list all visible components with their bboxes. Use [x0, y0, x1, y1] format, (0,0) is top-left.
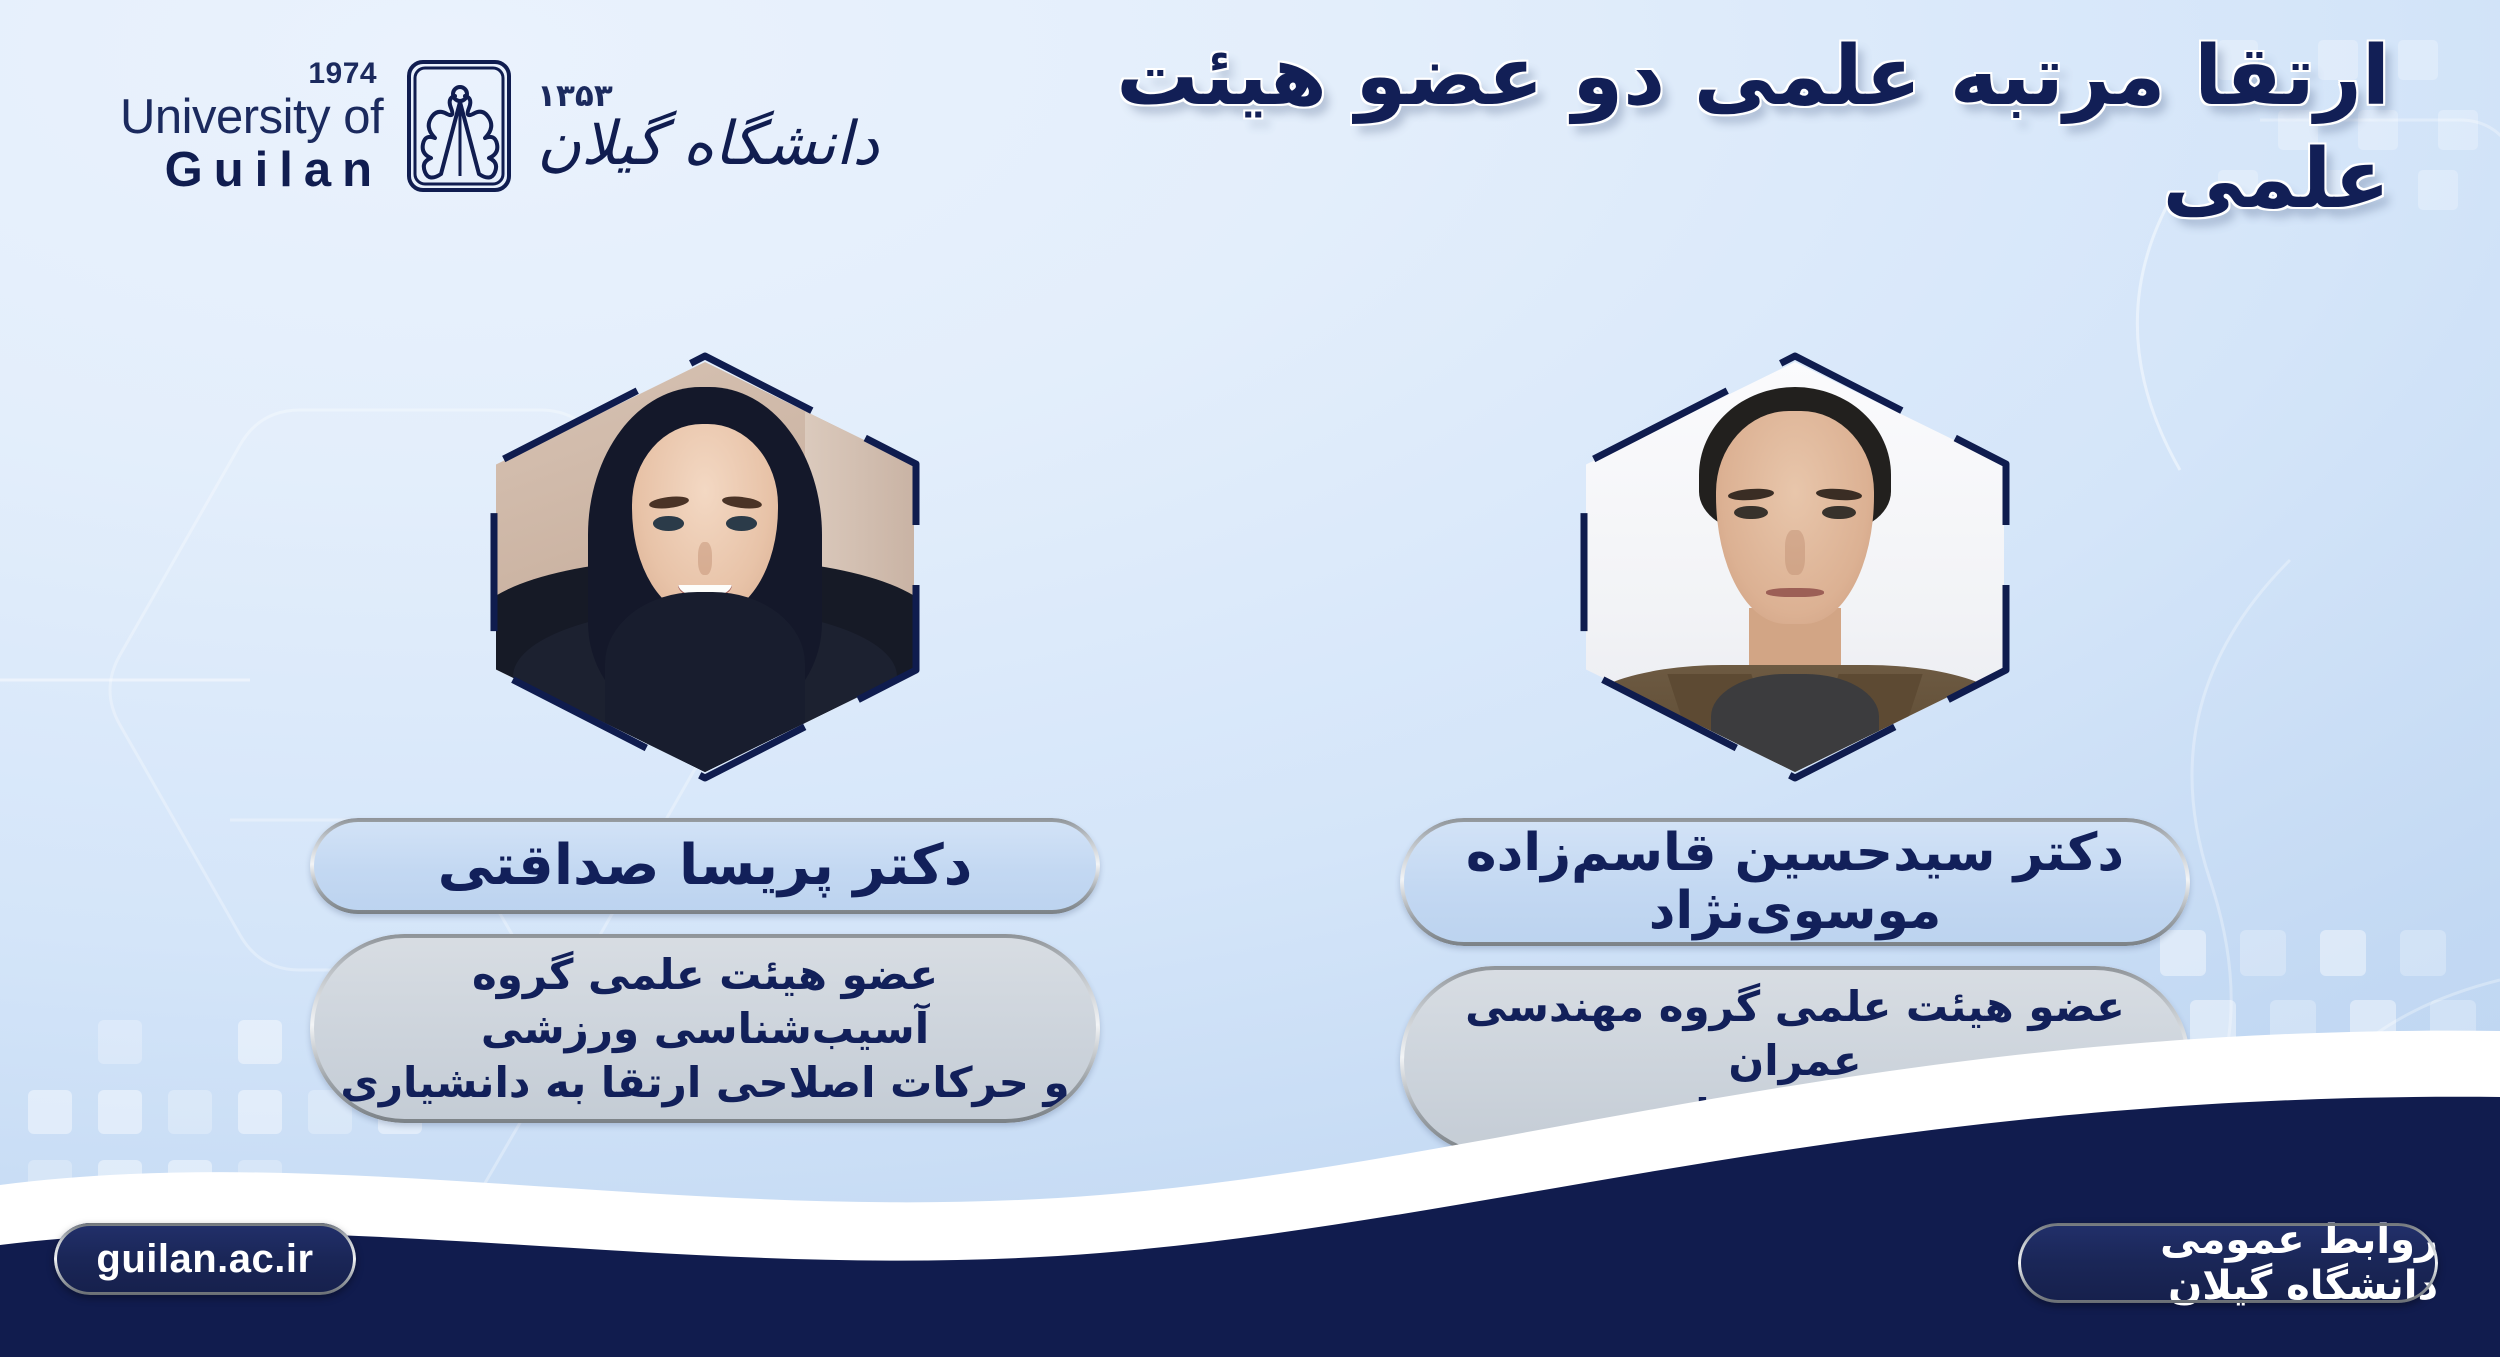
- public-relations-label: روابط عمومی دانشگاه گیلان: [2018, 1217, 2438, 1309]
- public-relations-badge: روابط عمومی دانشگاه گیلان: [2018, 1223, 2438, 1303]
- logo-founding-year-persian: ۱۳۵۳: [537, 81, 879, 112]
- website-label: guilan.ac.ir: [96, 1237, 313, 1282]
- page-title: ارتقا مرتبه علمی دو عضو هیئت علمی: [1070, 26, 2390, 231]
- logo-guilan-label: Guilan: [120, 146, 383, 195]
- logo-university-name-persian: دانشگاه گیلان: [537, 114, 879, 174]
- photo-hexagon-frame: [486, 352, 924, 782]
- website-badge[interactable]: guilan.ac.ir: [54, 1223, 356, 1295]
- university-logo: 1974 University of Guilan ۱۳۵۳ دانشگاه گ…: [120, 58, 879, 196]
- logo-english-text: 1974 University of Guilan: [120, 59, 383, 195]
- photo-hexagon-frame: [1576, 352, 2014, 782]
- university-emblem-icon: [401, 58, 519, 196]
- logo-persian-text: ۱۳۵۳ دانشگاه گیلان: [537, 81, 879, 174]
- hexagon-border-icon: [486, 352, 924, 782]
- logo-university-of-label: University of: [120, 93, 383, 142]
- hexagon-border-icon: [1576, 352, 2014, 782]
- logo-founding-year-gregorian: 1974: [120, 59, 377, 89]
- poster-canvas: 1974 University of Guilan ۱۳۵۳ دانشگاه گ…: [0, 0, 2500, 1357]
- honoree-name-badge: دکتر پریسا صداقتی: [310, 818, 1100, 914]
